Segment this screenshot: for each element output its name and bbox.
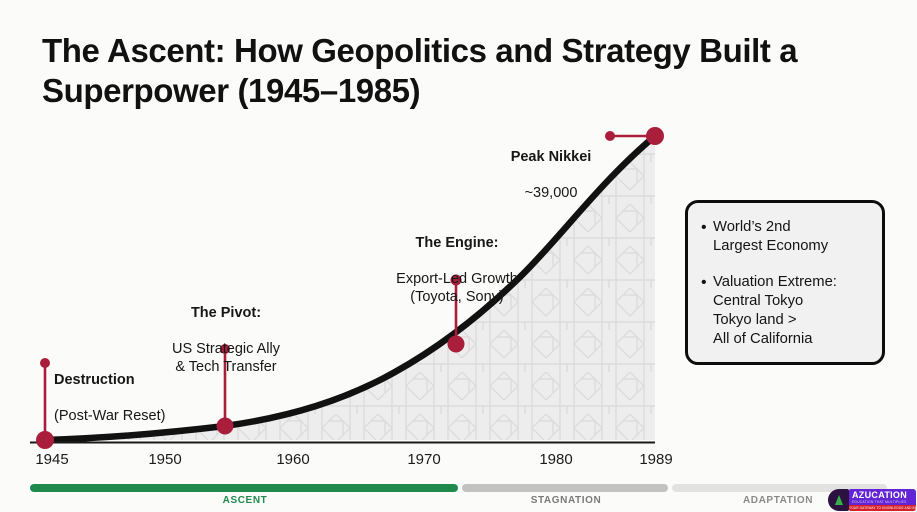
logo-tree-icon [828,489,849,511]
marker-1989[interactable] [646,127,664,145]
marker-1972[interactable] [448,336,465,353]
annotation-destruction: Destruction (Post-War Reset) [54,353,165,443]
page-title: The Ascent: How Geopolitics and Strategy… [42,31,842,111]
annotation-engine-heading: The Engine: [396,234,518,252]
x-tick-1950: 1950 [148,451,181,468]
leader-dot-peak [605,131,615,141]
x-tick-1960: 1960 [276,451,309,468]
callout-bullet-1-text: World’s 2nd Largest Economy [713,218,828,256]
phase-label-stagnation: STAGNATION [531,495,602,506]
phase-label-ascent: ASCENT [223,495,268,506]
phase-label-adaptation: ADAPTATION [743,495,813,506]
bullet-icon: • [701,273,713,349]
x-tick-1970: 1970 [407,451,440,468]
x-tick-1980: 1980 [539,451,572,468]
list-item: • World’s 2nd Largest Economy [701,218,868,256]
callout-bullet-2-text: Valuation Extreme: Central Tokyo Tokyo l… [713,273,837,349]
list-item: • Valuation Extreme: Central Tokyo Tokyo… [701,273,868,349]
annotation-peak-heading: Peak Nikkei [511,148,592,166]
annotation-pivot: The Pivot: US Strategic Ally & Tech Tran… [172,286,280,394]
annotation-peak: Peak Nikkei ~39,000 [511,130,592,220]
annotation-destruction-body: (Post-War Reset) [54,407,165,425]
leader-dot-destruction [40,358,50,368]
azucation-logo[interactable]: AZUCATION EDUCATION THAT MULTIPLIES YOUR… [828,489,916,511]
phase-progress-bar[interactable] [30,484,887,492]
annotation-pivot-heading: The Pivot: [172,304,280,322]
key-facts-callout: • World’s 2nd Largest Economy • Valuatio… [685,200,885,365]
x-tick-1989: 1989 [639,451,672,468]
phase-segment-ascent[interactable] [30,484,458,492]
logo-strip: YOUR GATEWAY TO KNOWLEDGE AND BEYOND [849,505,916,511]
logo-name: AZUCATION [849,489,916,500]
annotation-pivot-body: US Strategic Ally & Tech Transfer [172,340,280,376]
phase-segment-stagnation[interactable] [462,484,668,492]
slide-root: The Ascent: How Geopolitics and Strategy… [0,0,917,512]
annotation-engine-body: Export-Led Growth (Toyota, Sony) [396,270,518,306]
bullet-icon: • [701,218,713,256]
annotation-peak-body: ~39,000 [511,184,592,202]
marker-1955[interactable] [217,418,234,435]
logo-body: AZUCATION EDUCATION THAT MULTIPLIES YOUR… [849,489,916,511]
marker-1945[interactable] [36,431,54,449]
x-tick-1945: 1945 [35,451,68,468]
annotation-destruction-heading: Destruction [54,371,165,389]
annotation-engine: The Engine: Export-Led Growth (Toyota, S… [396,216,518,324]
